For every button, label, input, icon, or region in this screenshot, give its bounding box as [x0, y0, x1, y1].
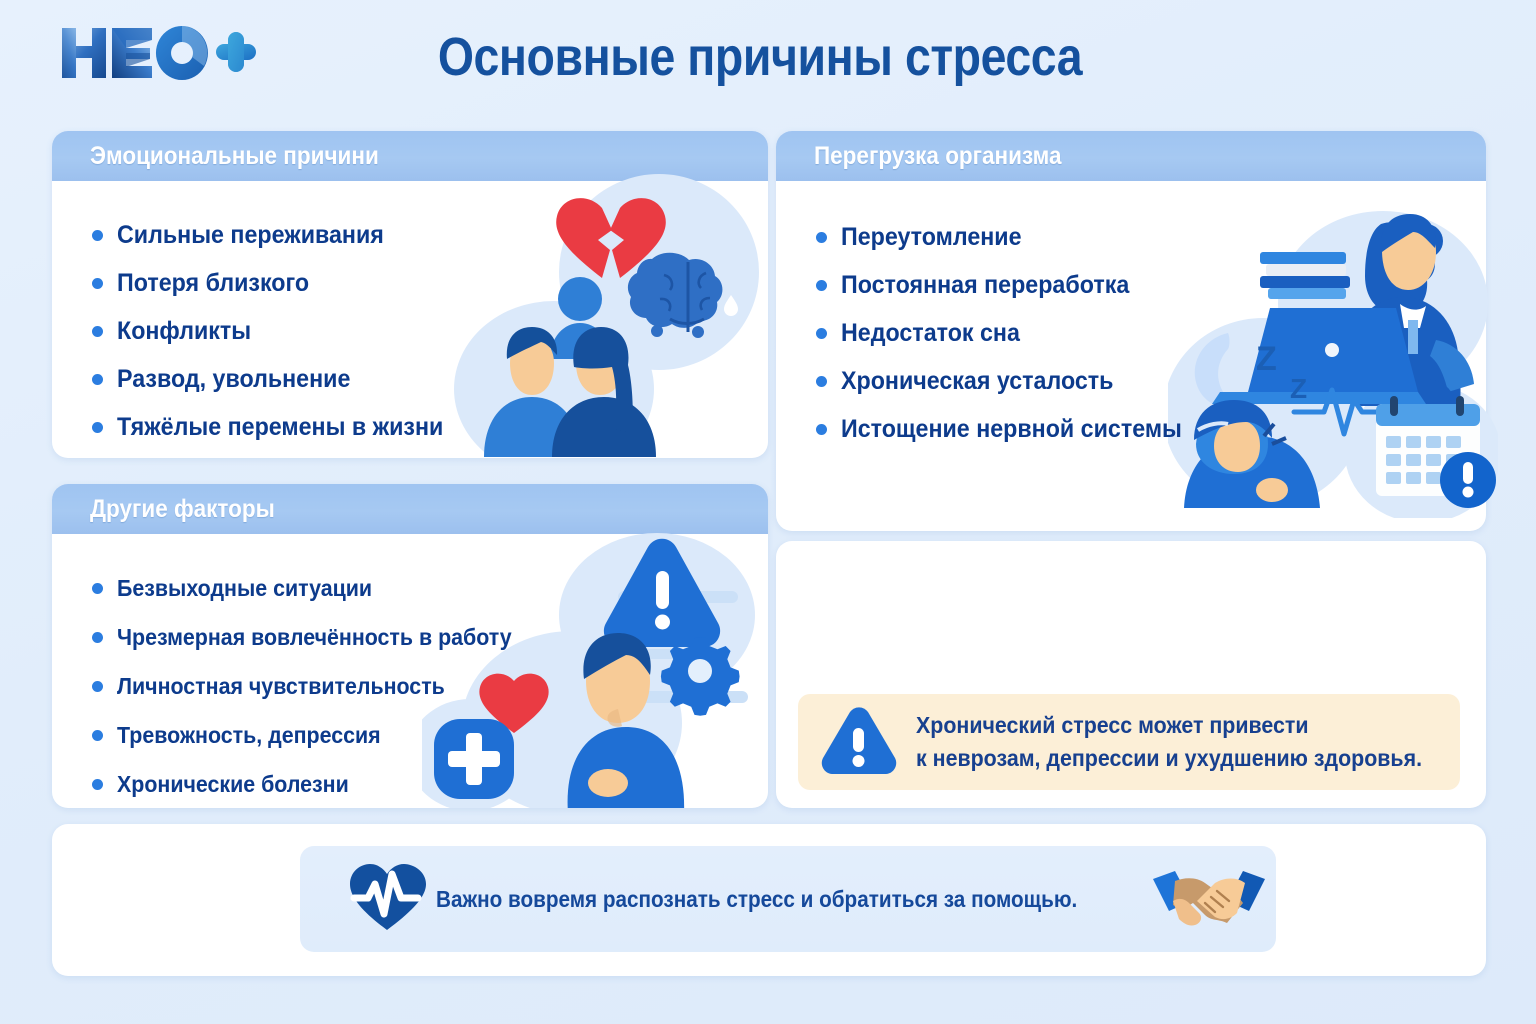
- bullet-dot-icon: [92, 779, 103, 790]
- card-body-overload-content: Переутомление Постоянная переработка Нед…: [776, 181, 1486, 453]
- notice-line-1: Хронический стресс может привести: [916, 709, 1422, 742]
- bullet-list-emotional: Сильные переживания Потеря близкого Конф…: [52, 203, 768, 451]
- bullet-dot-icon: [92, 422, 103, 433]
- card-header-label: Другие факторы: [90, 495, 275, 524]
- heart-pulse-icon: [348, 862, 426, 937]
- list-item-label: Сильные переживания: [117, 221, 384, 250]
- bullet-dot-icon: [92, 730, 103, 741]
- card-header-overload: Перегрузка организма: [776, 131, 1486, 181]
- footer-text: Важно вовремя распознать стресс и обрати…: [436, 886, 1077, 913]
- bullet-dot-icon: [92, 681, 103, 692]
- list-item: Хронические болезни: [92, 760, 768, 808]
- card-body-overload: Перегрузка организма Переутомление Посто…: [776, 131, 1486, 531]
- card-header-emotional: Эмоциональные причини: [52, 131, 768, 181]
- list-item: Конфликты: [92, 307, 768, 355]
- list-item: Постоянная переработка: [816, 261, 1486, 309]
- card-emotional-causes: Эмоциональные причини Сильные переживани…: [52, 131, 768, 458]
- bullet-dot-icon: [92, 583, 103, 594]
- list-item-label: Потеря близкого: [117, 269, 309, 298]
- warning-triangle-icon: [820, 706, 898, 779]
- notice-box: Хронический стресс может привести к невр…: [798, 694, 1460, 790]
- bullet-list-other: Безвыходные ситуации Чрезмерная вовлечён…: [52, 556, 768, 808]
- list-item: Потеря близкого: [92, 259, 768, 307]
- card-header-label: Перегрузка организма: [814, 142, 1061, 171]
- bullet-list-overload: Переутомление Постоянная переработка Нед…: [776, 203, 1486, 453]
- list-item: Безвыходные ситуации: [92, 564, 768, 613]
- list-item-label: Тревожность, депрессия: [117, 722, 381, 749]
- list-item: Сильные переживания: [92, 211, 768, 259]
- bullet-dot-icon: [92, 374, 103, 385]
- card-body-other-content: Безвыходные ситуации Чрезмерная вовлечён…: [52, 534, 768, 808]
- list-item-label: Постоянная переработка: [841, 271, 1129, 300]
- bullet-dot-icon: [92, 326, 103, 337]
- bullet-dot-icon: [816, 376, 827, 387]
- footer-banner: Важно вовремя распознать стресс и обрати…: [300, 846, 1276, 952]
- card-body-emotional: Сильные переживания Потеря близкого Конф…: [52, 181, 768, 451]
- list-item-label: Чрезмерная вовлечённость в работу: [117, 624, 512, 651]
- bullet-dot-icon: [92, 278, 103, 289]
- list-item: Развод, увольнение: [92, 355, 768, 403]
- list-item-label: Развод, увольнение: [117, 365, 350, 394]
- list-item-label: Тяжёлые перемены в жизни: [117, 413, 443, 442]
- card-header-other: Другие факторы: [52, 484, 768, 534]
- list-item: Чрезмерная вовлечённость в работу: [92, 613, 768, 662]
- list-item-label: Хронические болезни: [117, 771, 349, 798]
- bullet-dot-icon: [92, 230, 103, 241]
- list-item-label: Конфликты: [117, 317, 251, 346]
- page-title: Основные причины стресса: [364, 26, 1155, 88]
- notice-line-2: к неврозам, депрессии и ухудшению здоров…: [916, 742, 1422, 775]
- list-item: Тревожность, депрессия: [92, 711, 768, 760]
- list-item: Хроническая усталость: [816, 357, 1486, 405]
- notice-text: Хронический стресс может привести к невр…: [916, 709, 1460, 774]
- list-item-label: Переутомление: [841, 223, 1022, 252]
- brand-logo: [58, 22, 258, 88]
- list-item-label: Истощение нервной системы: [841, 415, 1182, 444]
- list-item: Переутомление: [816, 213, 1486, 261]
- bullet-dot-icon: [816, 280, 827, 291]
- list-item-label: Безвыходные ситуации: [117, 575, 372, 602]
- card-other-factors: Другие факторы Безвыходные ситуации Чрез…: [52, 484, 768, 808]
- list-item-label: Недостаток сна: [841, 319, 1020, 348]
- infographic-page: Основные причины стресса Эмоциональные п…: [0, 0, 1536, 1024]
- bullet-dot-icon: [816, 424, 827, 435]
- card-footer: Важно вовремя распознать стресс и обрати…: [52, 824, 1486, 976]
- list-item: Личностная чувствительность: [92, 662, 768, 711]
- list-item: Тяжёлые перемены в жизни: [92, 403, 768, 451]
- handshake-icon: [1149, 861, 1269, 938]
- bullet-dot-icon: [92, 632, 103, 643]
- list-item-label: Личностная чувствительность: [117, 673, 445, 700]
- list-item: Истощение нервной системы: [816, 405, 1486, 453]
- bullet-dot-icon: [816, 232, 827, 243]
- list-item-label: Хроническая усталость: [841, 367, 1113, 396]
- bullet-dot-icon: [816, 328, 827, 339]
- card-chronic-stress-notice: Хронический стресс может привести к невр…: [776, 541, 1486, 808]
- list-item: Недостаток сна: [816, 309, 1486, 357]
- card-header-label: Эмоциональные причини: [90, 142, 379, 171]
